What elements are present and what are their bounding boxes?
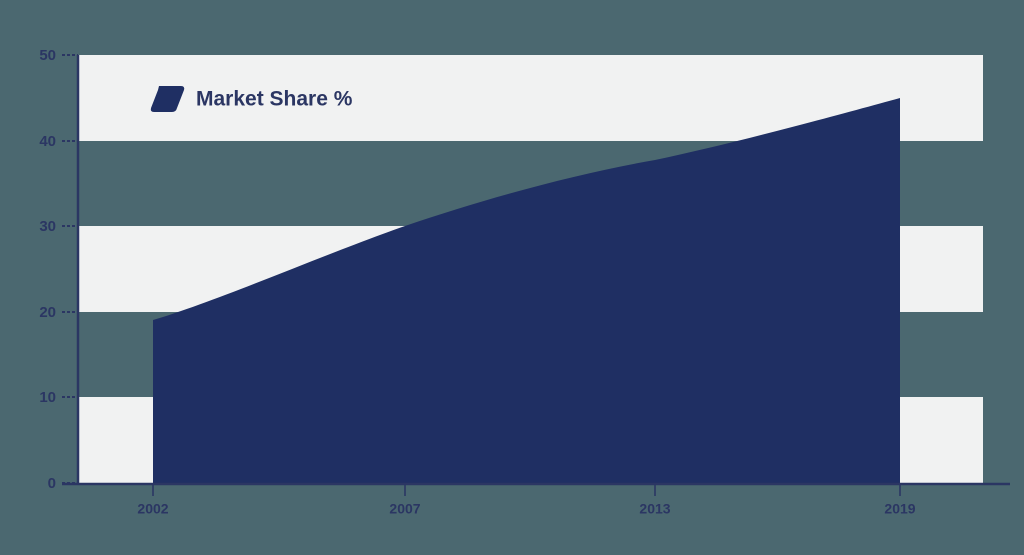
chart-canvas: 50 40 30 20 10 0 2002 2007 2013 2019 [0,0,1024,555]
x-tick-label-2007: 2007 [389,500,420,516]
y-tick-label-10: 10 [39,389,56,406]
y-tick-label-50: 50 [39,47,56,64]
y-tick-label-40: 40 [39,133,56,150]
y-tick-label-30: 30 [39,218,56,235]
x-tick-label-2002: 2002 [137,500,168,516]
x-tick-label-2013: 2013 [639,500,670,516]
area-path-market-share [153,98,900,483]
legend-label-market-share: Market Share % [196,88,353,111]
x-tick-label-2019: 2019 [884,500,915,516]
area-chart: 50 40 30 20 10 0 2002 2007 2013 2019 [0,0,1024,555]
x-axis-ticks: 2002 2007 2013 2019 [137,484,915,516]
series-market-share [153,98,900,483]
y-tick-label-0: 0 [48,475,56,492]
y-axis-ticks: 50 40 30 20 10 0 [39,47,78,492]
y-tick-label-20: 20 [39,304,56,321]
